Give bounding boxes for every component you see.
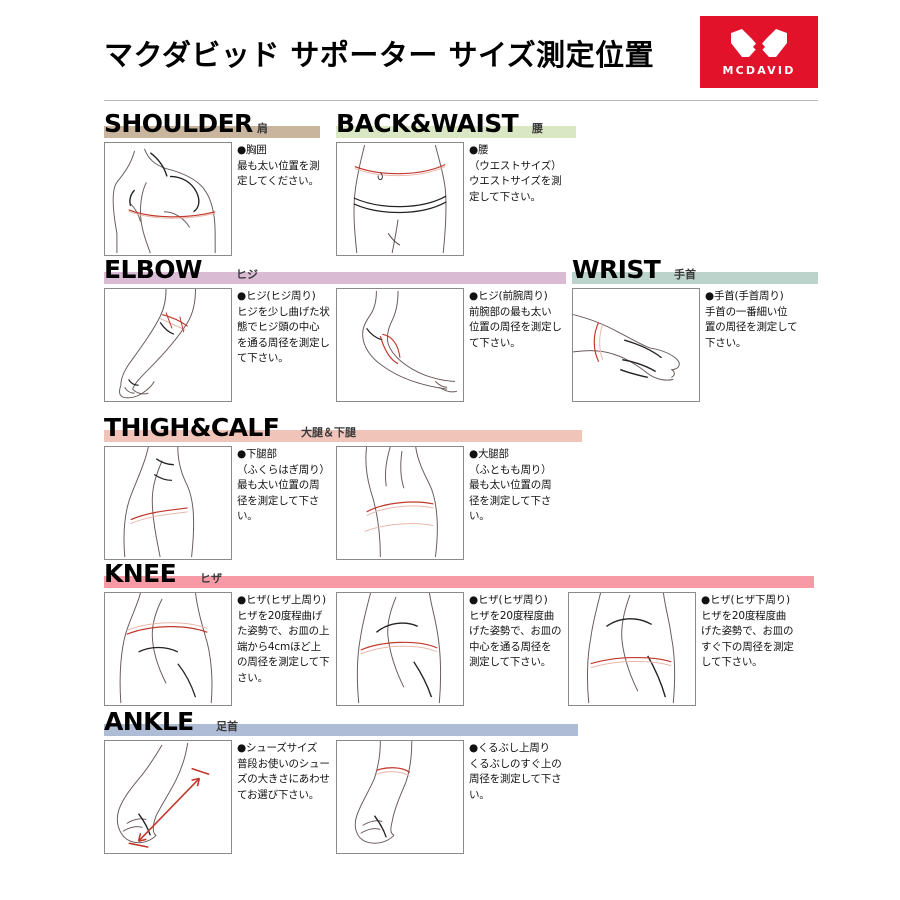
illustration-waist-hips xyxy=(336,142,464,256)
section-title-wrist: WRIST xyxy=(572,257,660,283)
panel-row-wrist: ●手首(手首周り) 手首の一番細い位 置の周径を測定して 下さい。 xyxy=(104,288,818,406)
section-title-jp-wrist: 手首 xyxy=(674,268,696,282)
illustration-foot-length xyxy=(104,740,232,854)
section-title-jp-knee: ヒザ xyxy=(200,572,222,586)
illustration-leg-calf xyxy=(104,446,232,560)
mcdavid-m-logo-icon xyxy=(729,27,789,61)
measure-note-knee-above: ●ヒザ(ヒザ上周り) ヒザを20度程曲げ た姿勢で、お皿の上 端から4cmほど上… xyxy=(237,593,341,686)
measure-note-shoe-size: ●シューズサイズ 普段お使いのシュー ズの大きさにあわせ てお選び下さい。 xyxy=(237,741,341,803)
section-header-ankle: ANKLE足首 xyxy=(104,710,818,736)
illustration-leg-thigh xyxy=(336,446,464,560)
measure-note-thigh: ●大腿部 （ふともも周り） 最も太い位置の周 径を測定して下さ い。 xyxy=(469,447,573,525)
section-title-jp-thigh-calf: 大腿＆下腿 xyxy=(301,426,356,440)
section-title-jp-shoulder: 肩 xyxy=(257,122,268,136)
illustration-hand-wrist xyxy=(572,288,700,402)
section-title-ankle: ANKLE xyxy=(104,709,194,735)
logo-wordmark: MCDAVID xyxy=(722,64,795,77)
measure-note-knee-center: ●ヒザ(ヒザ周り) ヒザを20度程度曲 げた姿勢で、お皿の 中心を通る周径を 測… xyxy=(469,593,573,671)
illustration-knee-above xyxy=(104,592,232,706)
brand-logo: MCDAVID xyxy=(700,16,818,88)
page-header: マクダビッド サポーター サイズ測定位置 MCDAVID xyxy=(104,16,818,92)
header-divider xyxy=(104,100,818,101)
illustration-knee-center xyxy=(336,592,464,706)
measure-note-waist: ●腰 （ウエストサイズ） ウエストサイズを測 定して下さい。 xyxy=(469,143,573,205)
section-knee: KNEEヒザ●ヒザ(ヒザ上周り) ヒザを20度程曲げ た姿勢で、お皿の上 端から… xyxy=(104,562,818,710)
section-title-shoulder: SHOULDER xyxy=(104,111,253,137)
section-thigh-calf: THIGH&CALF大腿＆下腿●下腿部 （ふくらはぎ周り） 最も太い位置の周 径… xyxy=(104,416,818,564)
measure-note-wrist-around: ●手首(手首周り) 手首の一番細い位 置の周径を測定して 下さい。 xyxy=(705,289,809,351)
measure-note-calf: ●下腿部 （ふくらはぎ周り） 最も太い位置の周 径を測定して下さ い。 xyxy=(237,447,341,525)
section-header-wrist: WRIST手首 xyxy=(104,258,818,284)
section-header-knee: KNEEヒザ xyxy=(104,562,818,588)
section-title-jp-back-waist: 腰 xyxy=(532,122,543,136)
illustration-knee-below xyxy=(568,592,696,706)
panel-row-ankle: ●シューズサイズ 普段お使いのシュー ズの大きさにあわせ てお選び下さい。●くる… xyxy=(104,740,818,858)
section-title-jp-elbow: ヒジ xyxy=(236,268,258,282)
section-ankle: ANKLE足首●シューズサイズ 普段お使いのシュー ズの大きさにあわせ てお選び… xyxy=(104,710,818,858)
panel-row-knee: ●ヒザ(ヒザ上周り) ヒザを20度程曲げ た姿勢で、お皿の上 端から4cmほど上… xyxy=(104,592,818,710)
section-title-jp-ankle: 足首 xyxy=(216,720,238,734)
section-title-thigh-calf: THIGH&CALF xyxy=(104,415,279,441)
measure-note-ankle-above: ●くるぶし上周り くるぶしのすぐ上の 周径を測定して下さ い。 xyxy=(469,741,573,803)
measure-note-knee-below: ●ヒザ(ヒザ下周り) ヒザを20度程度曲 げた姿勢で、お皿の すぐ下の周径を測定… xyxy=(701,593,805,671)
panel-row-thigh-calf: ●下腿部 （ふくらはぎ周り） 最も太い位置の周 径を測定して下さ い。●大腿部 … xyxy=(104,446,818,564)
page-title: マクダビッド サポーター サイズ測定位置 xyxy=(104,32,654,74)
section-title-knee: KNEE xyxy=(104,561,176,587)
illustration-foot-ankle xyxy=(336,740,464,854)
section-title-elbow: ELBOW xyxy=(104,257,202,283)
panel-row-back-waist: ●腰 （ウエストサイズ） ウエストサイズを測 定して下さい。 xyxy=(104,142,818,260)
section-title-back-waist: BACK&WAIST xyxy=(336,111,518,137)
section-wrist: WRIST手首●手首(手首周り) 手首の一番細い位 置の周径を測定して 下さい。 xyxy=(104,258,818,406)
section-header-thigh-calf: THIGH&CALF大腿＆下腿 xyxy=(104,416,818,442)
size-chart-page: マクダビッド サポーター サイズ測定位置 MCDAVID SHOULDER肩●胸… xyxy=(0,0,900,900)
